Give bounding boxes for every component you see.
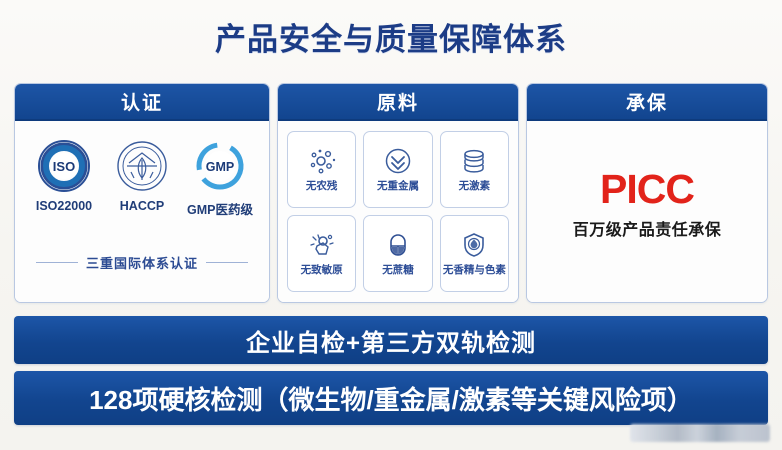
certification-badge-row: ISO ISO22000 [15,121,269,218]
svg-text:ISO: ISO [53,159,75,174]
sugar-cube-shield-icon [383,230,413,260]
panel-row: 认证 ISO ISO22000 [14,83,768,303]
panel-certification: 认证 ISO ISO22000 [14,83,270,303]
infographic-page: 产品安全与质量保障体系 认证 ISO [0,0,782,450]
material-card-no-hormone-label: 无激素 [459,178,491,193]
iso-ring-icon: ISO [28,137,100,195]
panel-materials-header: 原料 [278,84,518,121]
badge-haccp-label: HACCP [106,199,178,213]
material-card-no-flavor-color-label: 无香精与色素 [443,262,506,277]
picc-logo: PICC [600,166,694,212]
material-card-no-heavy-metal: 无重金属 [363,131,432,208]
material-card-no-hormone: 无激素 [440,131,509,208]
molecule-dots-icon [307,146,337,176]
material-card-no-allergen: 无致敏原 [287,215,356,292]
shield-droplet-icon [459,230,489,260]
material-card-no-sucrose: 无蔗糖 [363,215,432,292]
panel-insurance: 承保 PICC 百万级产品责任承保 [526,83,768,303]
divider-line-left [36,262,78,263]
allergen-molecule-icon [307,230,337,260]
circle-double-chevron-down-icon [383,146,413,176]
material-card-no-sucrose-label: 无蔗糖 [382,262,414,277]
gmp-ring-icon: GMP [184,137,256,195]
svg-text:GMP: GMP [206,160,234,174]
stacked-discs-icon [459,146,489,176]
blurred-watermark [630,424,770,442]
badge-haccp: HACCP [106,137,178,213]
material-card-no-allergen-label: 无致敏原 [301,262,343,277]
badge-iso22000-label: ISO22000 [28,199,100,213]
materials-grid: 无农残 无重金属 [278,121,518,302]
material-card-no-pesticide: 无农残 [287,131,356,208]
insurance-content: PICC 百万级产品责任承保 [527,121,767,302]
panel-materials-body: 无农残 无重金属 [278,121,518,302]
certification-footer: 三重国际体系认证 [15,253,269,272]
banner-128-item-testing: 128项硬核检测（微生物/重金属/激素等关键风险项） [14,371,768,425]
panel-insurance-body: PICC 百万级产品责任承保 [527,121,767,302]
banner-dual-track-testing: 企业自检+第三方双轨检测 [14,316,768,364]
haccp-leaf-icon [106,137,178,195]
material-card-no-flavor-color: 无香精与色素 [440,215,509,292]
panel-materials: 原料 [277,83,519,303]
badge-gmp: GMP GMP医药级 [184,137,256,218]
page-title: 产品安全与质量保障体系 [0,20,782,60]
certification-footer-text: 三重国际体系认证 [86,253,198,272]
insurance-subtitle: 百万级产品责任承保 [573,216,722,240]
material-card-no-pesticide-label: 无农残 [306,178,338,193]
badge-iso22000: ISO ISO22000 [28,137,100,213]
divider-line-right [206,262,248,263]
material-card-no-heavy-metal-label: 无重金属 [377,178,419,193]
panel-certification-header: 认证 [15,84,269,121]
panel-certification-body: ISO ISO22000 [15,121,269,302]
panel-insurance-header: 承保 [527,84,767,121]
badge-gmp-label: GMP医药级 [184,199,256,218]
